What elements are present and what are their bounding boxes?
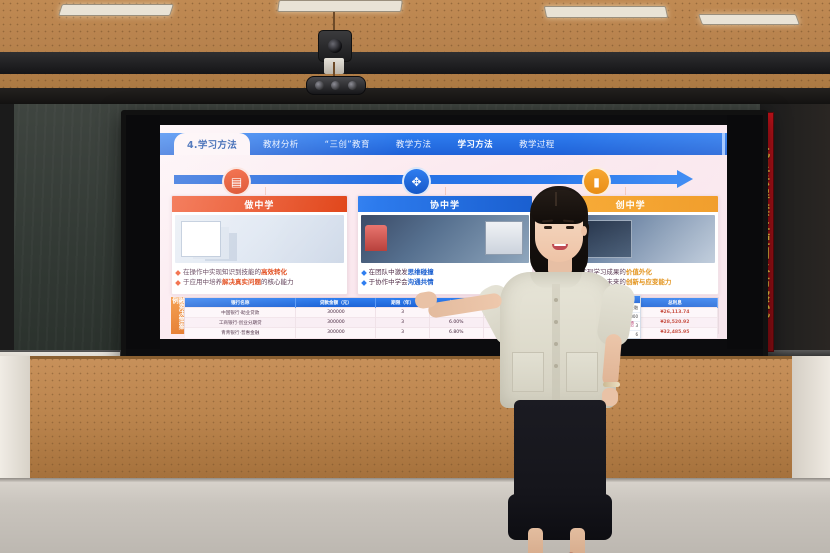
card-line-text: 于协作中学会沟通共情: [369, 278, 434, 286]
display-bezel-left: [126, 115, 160, 349]
tab-label: “三创”教育: [325, 138, 370, 150]
bracelet: [603, 382, 620, 387]
tab-jiaoxueguocheng[interactable]: 教学过程: [506, 133, 568, 155]
hair-front: [531, 190, 587, 224]
ceiling-light: [698, 14, 800, 25]
bullet-icon: [175, 280, 181, 286]
floor: [0, 478, 830, 553]
eye-right: [566, 226, 574, 229]
cell-bank: 青青银行·普惠金融: [185, 328, 296, 338]
card-title: 做中学: [244, 198, 274, 211]
document-icon: ▤: [222, 167, 251, 196]
pocket-left: [512, 352, 544, 392]
left-side-panel: [0, 356, 30, 478]
button-icon: [554, 320, 558, 324]
floor-baseboard: [0, 478, 830, 482]
pocket-right: [566, 352, 598, 392]
cell-rate: 6.80%: [429, 328, 483, 338]
arrow-head: [677, 170, 693, 188]
case-study-tab-label: 融资决策案例: [171, 297, 184, 334]
cell-amount: 300000: [296, 318, 376, 328]
button-icon: [554, 342, 558, 346]
microphone-array-icon: [306, 76, 366, 95]
hair-part: [555, 192, 557, 206]
card-zuozhongxue[interactable]: 做中学 在操作中实现知识到技能的高效转化 于应用中培养解决真实问题的核心能力: [171, 195, 348, 295]
card-title: 协中学: [430, 198, 460, 211]
card-header: 做中学: [172, 196, 347, 212]
display-bezel-right: [727, 115, 763, 349]
ceiling-beam-lower: [0, 88, 830, 104]
cell-term: 3: [376, 318, 430, 328]
tab-xuexifangfa[interactable]: 学习方法: [444, 133, 506, 155]
interactive-display[interactable]: 4.学习方法 教材分析 “三创”教育 教学方法 学习方法 教: [121, 110, 768, 364]
tab-label: 教学方法: [396, 138, 432, 150]
tab-sanchuangjiaoyu[interactable]: “三创”教育: [312, 133, 383, 155]
wall-trim: [0, 356, 830, 359]
presenter: [478, 176, 663, 553]
leg-left: [528, 528, 543, 553]
bullet-icon: [361, 270, 367, 276]
classroom-photo: 此显示屏禁止使用水布擦试 4.学习方法 教材分析 “三创”教育: [0, 0, 830, 553]
button-icon: [554, 298, 558, 302]
ceiling: [0, 0, 830, 104]
skirt: [514, 400, 606, 538]
cell-term: 3: [376, 308, 430, 318]
th-bank: 银行名称: [185, 298, 296, 308]
cell-term: 3: [376, 328, 430, 338]
ceiling-light: [544, 6, 669, 18]
card-photo: [175, 215, 344, 263]
lower-perforated-panel: [0, 356, 830, 478]
blackboard-frame-left: [0, 104, 14, 352]
card-line-text: 在团队中激发思维碰撞: [369, 268, 434, 276]
cell-rate: 6.00%: [429, 318, 483, 328]
th-amount: 贷款金额（元）: [296, 298, 376, 308]
cell-amount: 300000: [296, 308, 376, 318]
right-side-panel: [792, 356, 830, 478]
arm-right: [602, 333, 622, 386]
cell-amount: 300000: [296, 328, 376, 338]
slide-tab-bar: 4.学习方法 教材分析 “三创”教育 教学方法 学习方法 教: [160, 133, 727, 155]
tab-label: 教学过程: [519, 138, 555, 150]
tab-label: 4.学习方法: [187, 137, 237, 151]
tab-label: 教材分析: [263, 138, 299, 150]
ceiling-beam: [0, 52, 830, 74]
case-study-tab: 融资决策案例: [171, 297, 184, 334]
tab-label: 学习方法: [457, 138, 493, 150]
leg-right: [570, 528, 585, 553]
tab-jiaocaifenxi[interactable]: 教材分析: [250, 133, 312, 155]
card-line-text: 于应用中培养解决真实问题的核心能力: [183, 278, 294, 286]
ear: [581, 226, 587, 236]
cell-bank: 中国银行·助业贷款: [185, 308, 296, 318]
card-text: 在操作中实现知识到技能的高效转化 于应用中培养解决真实问题的核心能力: [172, 266, 347, 286]
ceiling-light: [277, 0, 403, 12]
tab-bar-end-marker: [722, 133, 725, 155]
card-line: 于应用中培养解决真实问题的核心能力: [176, 278, 343, 286]
bullet-icon: [361, 280, 367, 286]
tab-jiaoxuefangfa[interactable]: 教学方法: [383, 133, 445, 155]
handshake-icon: ✥: [402, 167, 431, 196]
card-line: 在操作中实现知识到技能的高效转化: [176, 268, 343, 276]
button-icon: [554, 364, 558, 368]
tab-xuexifangfa-active[interactable]: 4.学习方法: [174, 133, 250, 155]
eye-left: [544, 226, 552, 229]
bullet-icon: [175, 270, 181, 276]
cell-bank: 工商银行·创业分期贷: [185, 318, 296, 328]
card-line-text: 在操作中实现知识到技能的高效转化: [183, 268, 287, 276]
lower-wall-panel: [0, 356, 830, 478]
ceiling-light: [58, 4, 174, 16]
